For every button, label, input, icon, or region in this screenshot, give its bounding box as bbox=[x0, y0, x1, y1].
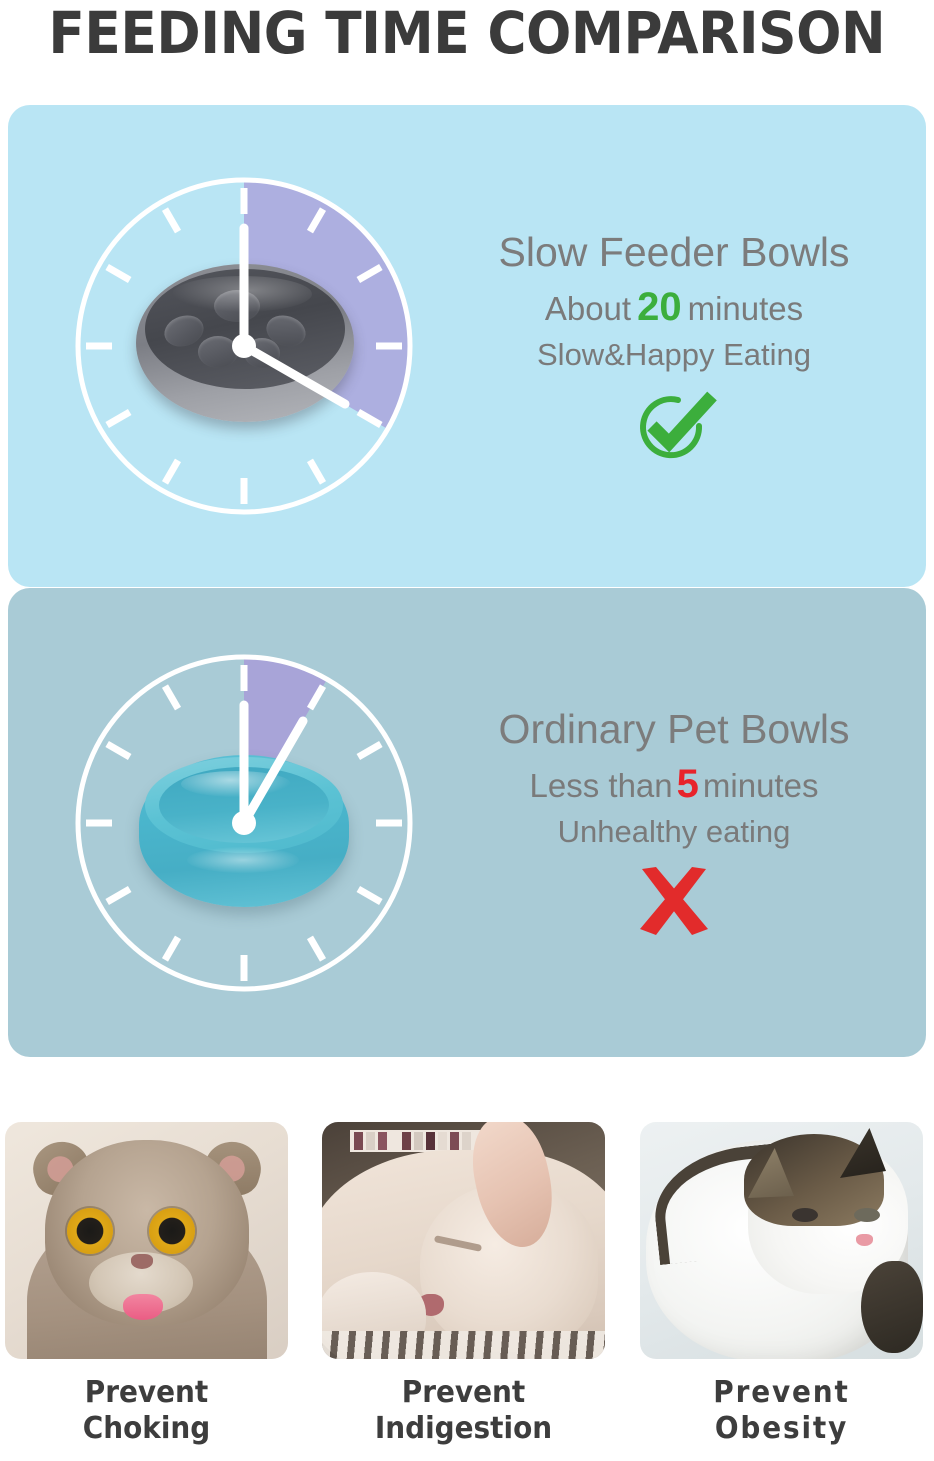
benefit-card-prevent-obesity: Prevent Obesity bbox=[640, 1122, 923, 1447]
benefit-card-caption-choking: Prevent Choking bbox=[15, 1375, 278, 1447]
clock-ordinary-bowl bbox=[64, 643, 424, 1003]
ordinary-bowl-tagline: Unhealthy eating bbox=[440, 810, 908, 854]
check-mark-icon bbox=[620, 388, 728, 464]
clock-hands-slow bbox=[64, 166, 424, 526]
clock-slow-feeder bbox=[64, 166, 424, 526]
ordinary-bowl-mark-row bbox=[440, 864, 908, 942]
page-title: FEEDING TIME COMPARISON bbox=[49, 0, 886, 64]
ordinary-bowl-duration-line: Less than5minutes bbox=[440, 760, 908, 810]
ordinary-bowl-duration-number: 5 bbox=[673, 762, 703, 806]
caption-line-1: Prevent bbox=[15, 1375, 278, 1411]
benefit-cards: Prevent Choking bbox=[0, 1122, 934, 1461]
benefit-card-prevent-indigestion: Prevent Indigestion bbox=[322, 1122, 605, 1447]
clock-center-pin-ordinary bbox=[232, 811, 256, 835]
slow-feeder-mark-row bbox=[440, 387, 908, 465]
hour-hand-ordinary-icon bbox=[244, 721, 303, 823]
slow-feeder-tagline: Slow&Happy Eating bbox=[440, 333, 908, 377]
caption-line-2: Obesity bbox=[650, 1411, 913, 1447]
comparison-panel-ordinary-bowl: Ordinary Pet Bowls Less than5minutes Unh… bbox=[8, 588, 926, 1057]
hour-hand-slow-icon bbox=[244, 346, 345, 404]
caption-line-2: Choking bbox=[15, 1411, 278, 1447]
slow-feeder-duration-suffix: minutes bbox=[688, 290, 804, 327]
surprised-tabby-cat-photo bbox=[5, 1122, 288, 1359]
clock-hands-ordinary bbox=[64, 643, 424, 1003]
page-header: FEEDING TIME COMPARISON bbox=[0, 0, 934, 92]
slow-feeder-duration-number: 20 bbox=[631, 285, 688, 329]
slow-feeder-headline: Slow Feeder Bowls bbox=[440, 227, 908, 277]
clock-center-pin-slow bbox=[232, 334, 256, 358]
caption-line-1: Prevent bbox=[650, 1375, 913, 1411]
obese-white-cat-photo bbox=[640, 1122, 923, 1359]
benefit-card-caption-indigestion: Prevent Indigestion bbox=[332, 1375, 595, 1447]
slow-feeder-duration-prefix: About bbox=[545, 290, 631, 327]
caption-line-2: Indigestion bbox=[332, 1411, 595, 1447]
ordinary-bowl-duration-prefix: Less than bbox=[530, 767, 673, 804]
slow-feeder-duration-line: About20minutes bbox=[440, 283, 908, 333]
benefit-card-prevent-choking: Prevent Choking bbox=[5, 1122, 288, 1447]
benefit-card-caption-obesity: Prevent Obesity bbox=[650, 1375, 913, 1447]
slow-feeder-text-block: Slow Feeder Bowls About20minutes Slow&Ha… bbox=[440, 227, 908, 465]
comparison-panel-slow-feeder: Slow Feeder Bowls About20minutes Slow&Ha… bbox=[8, 105, 926, 587]
ordinary-bowl-text-block: Ordinary Pet Bowls Less than5minutes Unh… bbox=[440, 704, 908, 942]
sleeping-cream-cat-photo bbox=[322, 1122, 605, 1359]
ordinary-bowl-headline: Ordinary Pet Bowls bbox=[440, 704, 908, 754]
ordinary-bowl-duration-suffix: minutes bbox=[703, 767, 819, 804]
cross-mark-icon bbox=[626, 863, 722, 943]
caption-line-1: Prevent bbox=[332, 1375, 595, 1411]
